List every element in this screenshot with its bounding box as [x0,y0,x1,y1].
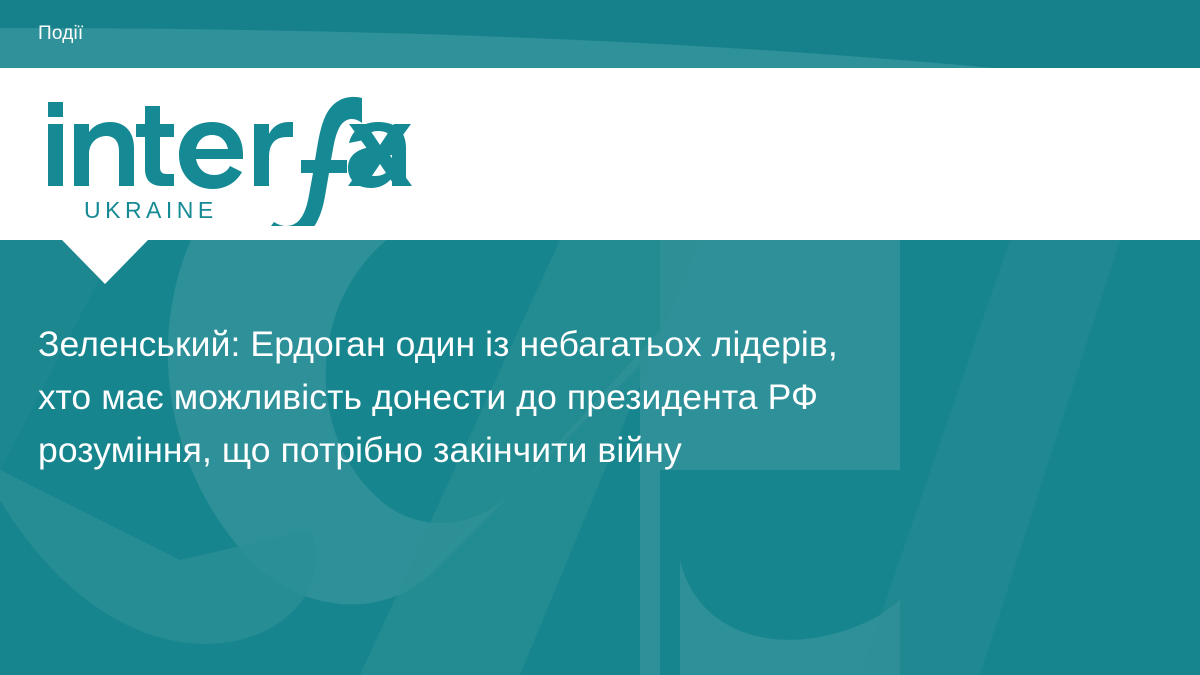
section-label[interactable]: Події [38,0,83,68]
panel-pointer-triangle [62,240,148,284]
headline-line-2: хто має можливість донести до президента… [38,371,1153,424]
interfax-ukraine-logo[interactable]: UKRAINE [44,96,414,226]
headline: Зеленський: Ердоган один із небагатьох л… [38,318,1153,477]
headline-line-1: Зеленський: Ердоган один із небагатьох л… [38,318,1153,371]
logo-subtitle: UKRAINE [84,197,218,223]
top-bar [0,0,1200,68]
top-bar-accent-curve [0,0,1200,68]
headline-line-3: розуміння, що потрібно закінчити війну [38,424,1153,477]
news-card: Події UK [0,0,1200,675]
